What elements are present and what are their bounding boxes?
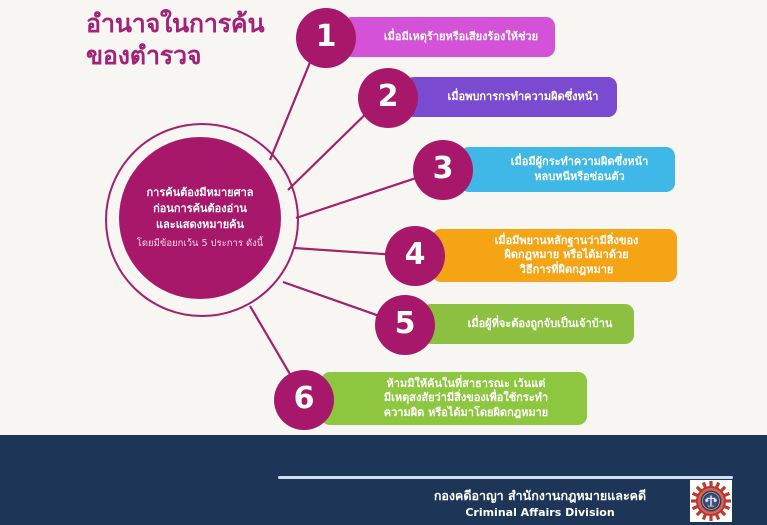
item-badge-6[interactable]: 6 — [274, 370, 334, 430]
item-2-number: 2 — [378, 82, 399, 112]
hub-line-2: ก่อนการค้นต้องอ่าน — [153, 202, 247, 215]
footer-organization: กองคดีอาญา สำนักงานกฎหมายและคดี Criminal… — [400, 487, 680, 521]
item-3-number: 3 — [433, 154, 454, 184]
item-badge-5[interactable]: 5 — [375, 295, 435, 355]
police-emblem — [690, 480, 732, 522]
footer-divider — [278, 476, 733, 479]
item-badge-3[interactable]: 3 — [413, 140, 473, 200]
item-6-line-2: มีเหตุสงสัยว่ามีสิ่งของเพื่อใช้กระทำ — [384, 391, 549, 406]
hub-main-text: การค้นต้องมีหมายศาล ก่อนการค้นต้องอ่าน แ… — [146, 185, 253, 232]
hub-circle: การค้นต้องมีหมายศาล ก่อนการค้นต้องอ่าน แ… — [119, 137, 281, 299]
item-1-line-1: เมื่อมีเหตุร้ายหรือเสียงร้องให้ช่วย — [384, 30, 538, 45]
item-3-line-2: หลบหนีหรือซ่อนตัว — [511, 170, 649, 185]
item-5-line-1: เมื่อผู้ที่จะต้องถูกจับเป็นเจ้าบ้าน — [468, 317, 613, 332]
hub-line-3: และแสดงหมายค้น — [156, 218, 244, 231]
footer-org-english: Criminal Affairs Division — [400, 505, 680, 521]
item-3-line-1: เมื่อมีผู้กระทำความผิดซึ่งหน้า — [511, 155, 649, 170]
item-4-line-2: ผิดกฎหมาย หรือได้มาด้วย — [495, 248, 639, 263]
item-4-line-3: วิธีการที่ผิดกฎหมาย — [495, 263, 639, 278]
item-bar-1[interactable]: เมื่อมีเหตุร้ายหรือเสียงร้องให้ช่วย — [343, 17, 555, 57]
infographic-page: อำนาจในการค้น ของตำรวจ การค้นต้องมีหมายศ… — [0, 0, 767, 525]
item-bar-2[interactable]: เมื่อพบการกรทำความผิดซึ่งหน้า — [405, 77, 617, 117]
item-badge-2[interactable]: 2 — [358, 68, 418, 128]
item-6-line-1: ห้ามมิให้ค้นในที่สาธารณะ เว้นแต่ — [384, 377, 549, 392]
item-bar-3[interactable]: เมื่อมีผู้กระทำความผิดซึ่งหน้า หลบหนีหรื… — [460, 147, 675, 192]
item-5-number: 5 — [395, 309, 416, 339]
hub-note: โดยมีข้อยกเว้น 5 ประการ ดังนี้ — [137, 238, 264, 250]
title-line-2: ของตำรวจ — [86, 40, 316, 72]
item-bar-6[interactable]: ห้ามมิให้ค้นในที่สาธารณะ เว้นแต่ มีเหตุส… — [321, 372, 587, 425]
title-line-1: อำนาจในการค้น — [86, 8, 316, 40]
footer-bar: กองคดีอาญา สำนักงานกฎหมายและคดี Criminal… — [0, 435, 767, 525]
page-title: อำนาจในการค้น ของตำรวจ — [86, 8, 316, 72]
item-4-line-1: เมื่อมีพยานหลักฐานว่ามีสิ่งของ — [495, 234, 639, 249]
item-bar-4[interactable]: เมื่อมีพยานหลักฐานว่ามีสิ่งของ ผิดกฎหมาย… — [432, 229, 677, 282]
footer-org-thai: กองคดีอาญา สำนักงานกฎหมายและคดี — [400, 487, 680, 505]
item-1-number: 1 — [316, 22, 337, 52]
item-6-number: 6 — [294, 384, 315, 414]
item-badge-4[interactable]: 4 — [385, 226, 445, 286]
item-bar-5[interactable]: เมื่อผู้ที่จะต้องถูกจับเป็นเจ้าบ้าน — [422, 304, 634, 344]
item-6-line-3: ความผิด หรือได้มาโดยผิดกฎหมาย — [384, 406, 549, 421]
item-4-number: 4 — [405, 240, 426, 270]
item-badge-1[interactable]: 1 — [296, 8, 356, 68]
hub-line-1: การค้นต้องมีหมายศาล — [146, 186, 253, 199]
diagram-canvas: อำนาจในการค้น ของตำรวจ การค้นต้องมีหมายศ… — [0, 0, 767, 435]
item-2-line-1: เมื่อพบการกรทำความผิดซึ่งหน้า — [448, 90, 599, 105]
